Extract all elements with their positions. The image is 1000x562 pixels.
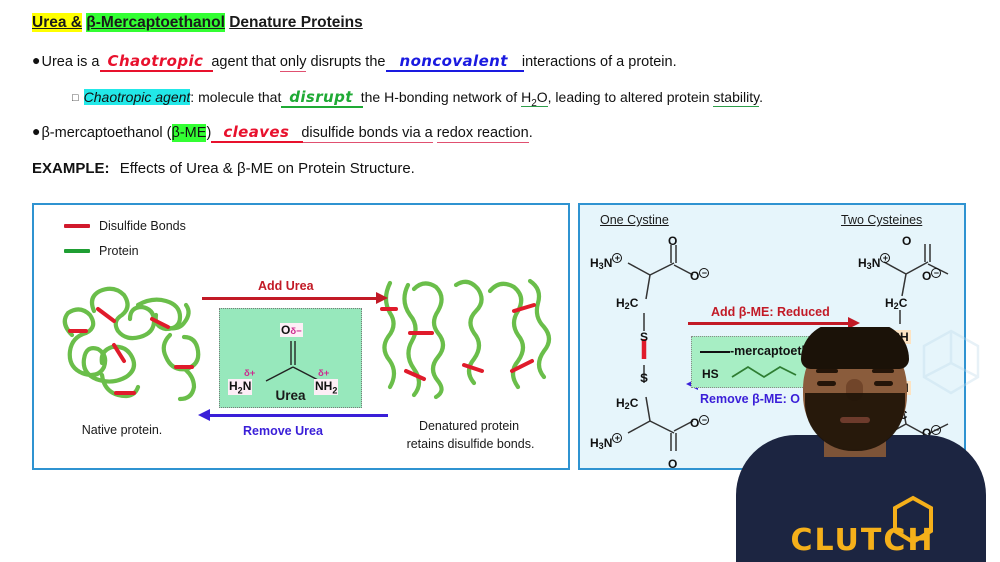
add-bme-arrow-line — [688, 322, 850, 325]
bullet2-post: , leading to altered protein — [548, 89, 710, 105]
webcam-mouth — [840, 417, 870, 423]
bullet2-end: . — [759, 89, 763, 105]
heading-two-cysteines: Two Cysteines — [841, 213, 922, 227]
bullet1-post: interactions of a protein. — [522, 54, 677, 70]
bullet3-mid: disulfide bonds via a — [301, 125, 432, 143]
bullet-line-2: □Chaotropic agent: molecule that disrupt… — [72, 88, 763, 110]
protein-swatch-icon — [64, 249, 90, 253]
legend-label-disulfide: Disulfide Bonds — [99, 219, 186, 233]
bullet2-mid: the H-bonding network of — [361, 89, 517, 105]
cysteine-top-ch2: H2C — [885, 296, 907, 311]
cysteine-top-carbonyl-oxygen: O — [902, 234, 911, 248]
caption-denatured-protein-1: Denatured protein — [374, 419, 564, 433]
bullet1-mid: agent that — [211, 54, 276, 70]
cystine-sulfur-top: S — [640, 330, 648, 344]
legend: Disulfide Bonds Protein — [64, 219, 186, 269]
bullet2-term: Chaotropic agent — [84, 89, 191, 105]
title-part-plain: Denature Proteins — [229, 14, 363, 31]
bullet2-formula-water: H2O — [521, 89, 548, 107]
legend-item-protein: Protein — [64, 244, 186, 258]
example-text: Effects of Urea & β-ME on Protein Struct… — [120, 160, 415, 177]
hexagon-watermark-icon — [916, 327, 986, 399]
bullet1-mid2: disrupts the — [311, 54, 386, 70]
add-urea-arrow-head-icon — [376, 292, 388, 304]
bullet2-underlined-stability: stability — [713, 89, 759, 107]
bullet1-handwritten-chaotropic: Chaotropic — [104, 52, 208, 70]
urea-molecule-box: Oδ− δ+H2N δ+NH2 Urea — [219, 308, 362, 408]
bullet-marker-3: ● — [32, 123, 40, 139]
cystine-bottom-amine: H3N+ — [590, 433, 622, 451]
add-bme-arrow-label: Add β-ME: Reduced — [711, 305, 830, 319]
bullet3-highlight-bme: β-ME — [172, 124, 207, 142]
remove-urea-arrow-label: Remove Urea — [243, 424, 323, 438]
webcam-eye-right — [874, 381, 893, 386]
heading-one-cystine: One Cystine — [600, 213, 669, 227]
webcam-shirt-text: CLUTCH — [770, 523, 955, 558]
caption-denatured-protein-2: retains disulfide bonds. — [368, 437, 573, 451]
webcam-eyebrow-right — [872, 369, 894, 373]
add-urea-arrow-line — [202, 297, 378, 300]
denatured-protein-illustration — [380, 275, 558, 403]
bullet1-handwritten-noncovalent: noncovalent — [390, 52, 518, 70]
cystine-sulfur-bottom: S — [640, 371, 648, 385]
page-title: Urea & β-Mercaptoethanol Denature Protei… — [32, 14, 363, 32]
cystine-top-amine: H3N+ — [590, 253, 622, 271]
slide-page: Urea & β-Mercaptoethanol Denature Protei… — [0, 0, 1000, 562]
bullet1-pre: Urea is a — [41, 54, 99, 70]
sub-bullet-marker: □ — [72, 92, 79, 104]
title-part-green: β-Mercaptoethanol — [86, 13, 225, 32]
legend-label-protein: Protein — [99, 244, 139, 258]
bullet3-post: . — [529, 125, 533, 141]
add-urea-arrow-label: Add Urea — [258, 279, 314, 293]
bullet2-handwritten-disrupt: disrupt — [285, 88, 357, 106]
cysteine-top-carboxylate: O− — [922, 268, 941, 283]
bullet1-underlined-only: only — [280, 54, 307, 72]
bullet-line-1: ●Urea is a Chaotropic agent that only di… — [32, 52, 677, 71]
cystine-top-ch2: H2C — [616, 296, 638, 311]
disulfide-bond-swatch-icon — [64, 224, 90, 228]
webcam-overlay[interactable]: CLUTCH — [706, 327, 1000, 562]
caption-native-protein: Native protein. — [42, 423, 202, 437]
bullet-marker: ● — [32, 52, 40, 68]
remove-urea-arrow-line — [210, 414, 388, 417]
bullet3-pre2: ) — [206, 125, 211, 141]
bullet-line-3: ●β-mercaptoethanol (β-ME) cleaves disulf… — [32, 123, 533, 142]
urea-molecule-label: Urea — [220, 388, 361, 403]
bullet2-pre: : molecule that — [190, 89, 281, 105]
legend-item-disulfide: Disulfide Bonds — [64, 219, 186, 233]
example-label: EXAMPLE: — [32, 160, 110, 177]
native-protein-illustration — [42, 275, 222, 415]
urea-oxygen-atom: Oδ− — [280, 323, 303, 337]
bullet3-underlined-redox: redox reaction — [437, 125, 529, 143]
bullet3-handwritten-cleaves: cleaves — [215, 123, 297, 141]
cystine-top-carbonyl-oxygen: O — [668, 234, 677, 248]
cysteine-top-amine: H3N+ — [858, 253, 890, 271]
cystine-bottom-ch2: H2C — [616, 396, 638, 411]
cystine-top-carboxylate: O− — [690, 268, 709, 283]
webcam-eyebrow-left — [816, 369, 838, 373]
bullet3-pre: β-mercaptoethanol ( — [41, 125, 171, 141]
example-line: EXAMPLE: Effects of Urea & β-ME on Prote… — [32, 160, 415, 177]
remove-urea-arrow-head-icon — [198, 409, 210, 421]
cystine-bottom-carbonyl-oxygen: O — [668, 457, 677, 471]
title-part-yellow: Urea & — [32, 13, 82, 32]
webcam-hair — [801, 327, 909, 369]
webcam-eye-left — [817, 381, 836, 386]
